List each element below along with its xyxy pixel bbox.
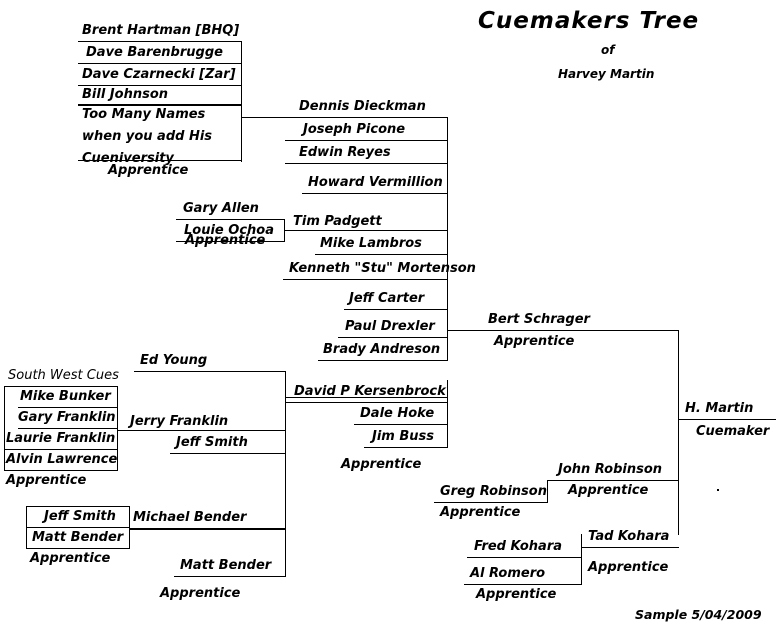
- spine-bender-box-left: [26, 506, 27, 549]
- rule-dieckman-1: [285, 140, 448, 141]
- node-al-romero: Al Romero: [470, 567, 545, 581]
- rule-tad-kohara: [581, 547, 679, 548]
- node-alvin-lawrence: Alvin Lawrence: [6, 453, 117, 467]
- node-paul-drexler: Paul Drexler: [345, 320, 435, 334]
- spine-kohara-box: [581, 547, 582, 585]
- stray-dot: [717, 489, 719, 491]
- node-jeff-smith-upper: Jeff Smith: [176, 436, 248, 450]
- rule-mortenson: [283, 279, 448, 280]
- label-young-apprentice: Apprentice: [160, 587, 240, 601]
- node-bill-johnson: Bill Johnson: [82, 88, 168, 102]
- node-brent-hartman: Brent Hartman [BHQ]: [82, 24, 239, 38]
- spine-kersenbrock-group: [447, 380, 448, 448]
- label-kohara-apprentice: Apprentice: [476, 588, 556, 602]
- node-tad-kohara: Tad Kohara: [588, 530, 669, 544]
- rule-hartman-4: [78, 104, 242, 106]
- spine-bender-box-right: [129, 506, 130, 549]
- rule-swc-top: [4, 386, 118, 387]
- rule-bender-box-bottom: [26, 548, 130, 549]
- node-dave-barenbrugge: Dave Barenbrugge: [86, 46, 223, 60]
- cuemakers-tree-diagram: Cuemakers Tree of Harvey Martin Brent Ha…: [0, 0, 776, 628]
- connector-hartman-to-dieckman: [241, 117, 448, 118]
- rule-andreson: [318, 360, 448, 361]
- node-jeff-carter: Jeff Carter: [349, 292, 424, 306]
- page-title: Cuemakers Tree: [478, 8, 699, 34]
- rule-kersenbrock-2: [354, 424, 448, 425]
- node-jerry-franklin: Jerry Franklin: [130, 415, 228, 429]
- node-gary-allen: Gary Allen: [183, 202, 259, 216]
- node-bert-schrager: Bert Schrager: [488, 313, 590, 327]
- rule-jerry-franklin: [117, 430, 286, 431]
- rule-greg-robinson: [434, 502, 548, 503]
- label-allen-apprentice: Apprentice: [185, 234, 265, 248]
- title-of-word: of: [601, 43, 614, 57]
- label-swc-apprentice: Apprentice: [6, 474, 86, 488]
- rule-bender-box-mid: [26, 527, 130, 528]
- spine-swc-left: [4, 386, 5, 471]
- rule-matt-bender-right: [174, 576, 286, 577]
- rule-swc-3: [4, 449, 118, 450]
- node-tim-padgett: Tim Padgett: [293, 215, 382, 229]
- rule-lambros: [315, 254, 448, 255]
- node-dale-hoke: Dale Hoke: [360, 407, 434, 421]
- spine-young-group: [285, 371, 286, 577]
- node-dave-czarnecki: Dave Czarnecki [Zar]: [82, 68, 236, 82]
- connector-young-to-kersenbrock: [285, 397, 448, 398]
- tree-owner-name: Harvey Martin: [558, 67, 654, 81]
- node-too-many-names-line1: Too Many Names: [82, 108, 205, 122]
- rule-michael-bender: [129, 528, 286, 530]
- rule-swc-1: [18, 407, 118, 408]
- label-south-west-cues: South West Cues: [8, 369, 119, 383]
- node-jim-buss: Jim Buss: [372, 430, 434, 444]
- spine-hartman-group: [241, 41, 242, 162]
- node-gary-franklin: Gary Franklin: [18, 411, 116, 425]
- rule-john-robinson: [548, 480, 679, 481]
- node-mike-bunker: Mike Bunker: [20, 390, 111, 404]
- rule-drexler: [338, 337, 448, 338]
- node-jeff-smith-lower: Jeff Smith: [44, 510, 116, 524]
- connector-schrager: [447, 330, 679, 331]
- rule-jeff-smith-upper: [170, 453, 286, 454]
- label-hartman-apprentice: Apprentice: [108, 164, 188, 178]
- label-john-robinson-apprentice: Apprentice: [568, 484, 648, 498]
- node-edwin-reyes: Edwin Reyes: [299, 146, 391, 160]
- rule-fred-kohara: [467, 557, 581, 558]
- label-schrager-apprentice: Apprentice: [494, 335, 574, 349]
- label-kersenbrock-apprentice: Apprentice: [341, 458, 421, 472]
- rule-hartman-2: [78, 63, 242, 64]
- node-h-martin: H. Martin: [685, 402, 753, 416]
- rule-carter: [344, 309, 448, 310]
- node-matt-bender-right: Matt Bender: [180, 559, 271, 573]
- sample-date-stamp: Sample 5/04/2009: [635, 607, 762, 622]
- spine-swc-right: [117, 386, 118, 471]
- label-greg-robinson-apprentice: Apprentice: [440, 506, 520, 520]
- rule-kersenbrock-3: [364, 447, 448, 448]
- rule-bender-box-top: [26, 506, 130, 507]
- node-dennis-dieckman: Dennis Dieckman: [299, 100, 426, 114]
- rule-swc-2: [18, 428, 118, 429]
- connector-allen-to-padgett: [284, 230, 448, 231]
- label-cuemaker: Cuemaker: [696, 425, 769, 439]
- spine-dieckman-group: [447, 117, 448, 361]
- node-brady-andreson: Brady Andreson: [323, 343, 440, 357]
- node-greg-robinson: Greg Robinson: [440, 485, 547, 499]
- node-john-robinson: John Robinson: [558, 463, 662, 477]
- spine-john-robinson: [547, 480, 548, 502]
- rule-swc-bottom: [4, 470, 118, 471]
- node-michael-bender: Michael Bender: [133, 511, 246, 525]
- spine-root: [678, 330, 679, 535]
- rule-dieckman-3: [302, 193, 448, 194]
- rule-hartman-3: [78, 85, 242, 86]
- node-too-many-names-line2: when you add His: [82, 130, 212, 144]
- node-ed-young: Ed Young: [140, 354, 207, 368]
- rule-allen-1: [176, 219, 285, 220]
- node-howard-vermillion: Howard Vermillion: [308, 176, 443, 190]
- rule-h-martin: [678, 419, 776, 420]
- label-tad-kohara-apprentice: Apprentice: [588, 561, 668, 575]
- rule-dieckman-2: [285, 163, 448, 164]
- rule-hartman-1: [78, 41, 242, 42]
- node-mike-lambros: Mike Lambros: [320, 237, 422, 251]
- rule-al-romero: [464, 584, 581, 585]
- label-bender-box-apprentice: Apprentice: [30, 552, 110, 566]
- rule-ed-young: [134, 371, 286, 372]
- node-joseph-picone: Joseph Picone: [303, 123, 405, 137]
- node-laurie-franklin: Laurie Franklin: [6, 432, 115, 446]
- spine-tad-kohara: [581, 534, 582, 548]
- rule-hartman-5: [78, 160, 242, 161]
- node-fred-kohara: Fred Kohara: [474, 540, 562, 554]
- node-matt-bender-lower: Matt Bender: [32, 531, 123, 545]
- rule-kersenbrock-1: [285, 402, 448, 403]
